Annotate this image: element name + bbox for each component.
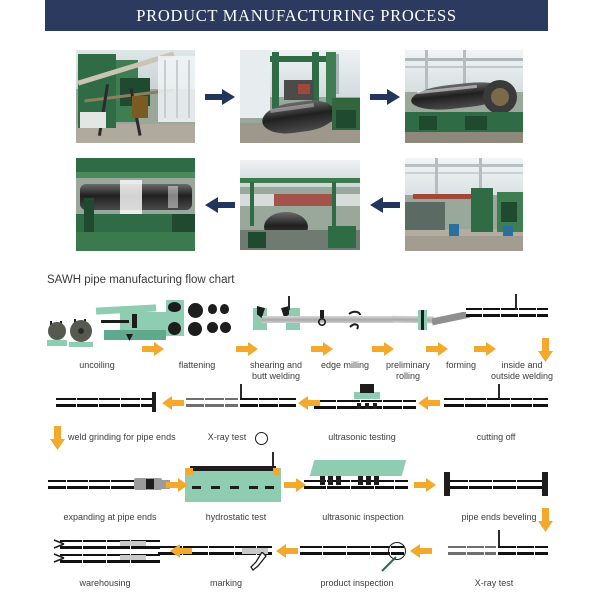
flow-arrow-row1-to-row2-down [538, 338, 553, 362]
flow-arrow-r4-3 [410, 544, 432, 558]
page-header-banner: PRODUCT MANUFACTURING PROCESS [45, 0, 548, 31]
steel-strip-rolling [392, 316, 434, 324]
flow-arrow-r1-6 [474, 342, 496, 356]
uncoiling-reel-1 [48, 322, 66, 340]
cutting-off-blade [498, 384, 500, 399]
pipe-cutting-off [444, 398, 548, 407]
warehousing-marking-bottom [120, 555, 146, 560]
step-label-flattening: flattening [162, 360, 232, 371]
step-label-ultrasonic-inspection: ultrasonic inspection [304, 512, 422, 523]
photo-workshop-overview [405, 158, 523, 251]
uncoiling-blade [101, 320, 129, 323]
step-label-uncoiling: uncoiling [62, 360, 132, 371]
formed-welded-pipe [466, 308, 548, 317]
photo-pipe-conveyor [76, 158, 195, 251]
page-title: PRODUCT MANUFACTURING PROCESS [136, 6, 456, 26]
flow-arrow-r4-2 [276, 544, 298, 558]
flow-arrow-r1-5 [426, 342, 448, 356]
pipe-expanding [48, 480, 136, 489]
uncoiling-base-1 [47, 340, 67, 346]
flattening-roll-5 [208, 304, 217, 314]
uncoiling-base-2 [69, 342, 93, 347]
flow-arrow-r3-1 [166, 478, 188, 492]
pipe-xray-row4-right [498, 546, 548, 555]
uncoiling-down-nub [126, 328, 133, 338]
ultrasonic-testing-probes [357, 396, 377, 402]
step-label-ultrasonic-testing: ultrasonic testing [310, 432, 414, 443]
step-label-weld-grinding: weld grinding for pipe ends [68, 432, 208, 443]
photo-uncoiling-mill [76, 50, 195, 143]
photo-spiral-pipe-forming [240, 50, 360, 143]
flow-arrow-r2-2 [298, 396, 320, 410]
step-label-edge-milling: edge milling [314, 360, 376, 371]
preliminary-rolling-roll [421, 310, 424, 330]
flow-arrow-r1-1 [142, 342, 164, 356]
ultrasonic-inspection-probe-2 [358, 472, 380, 481]
flattening-roll-8 [220, 322, 231, 333]
photo-arrow-left-2 [370, 196, 400, 214]
step-label-hydrostatic-test: hydrostatic test [186, 512, 286, 523]
pipe-xray-right-half [240, 398, 296, 407]
uncoiling-machine-detail [132, 314, 137, 328]
flow-arrow-r1-3 [311, 342, 333, 356]
pipe-xray-row4-left [448, 546, 496, 555]
step-label-expanding-pipe-ends: expanding at pipe ends [48, 512, 172, 523]
inside-outside-welding-torch [515, 294, 517, 310]
photo-hydrostatic-station [240, 160, 360, 250]
flattening-roll-4 [188, 322, 202, 336]
photo-arrow-right-2 [370, 88, 400, 106]
product-inspection-magnifier-handle [380, 556, 398, 572]
photo-arrow-left-1 [205, 196, 235, 214]
xray-test-row4-emitter [498, 530, 500, 546]
edge-milling-tool [348, 308, 362, 332]
warehousing-stack-ends [52, 538, 66, 566]
step-label-shearing-butt-welding: shearing and butt welding [240, 360, 312, 382]
hydrostatic-test-gauge-post [272, 452, 274, 466]
flow-arrow-r2-3 [418, 396, 440, 410]
step-label-product-inspection: product inspection [300, 578, 414, 589]
ultrasonic-testing-unit [360, 384, 374, 393]
beveling-cap-right [542, 472, 548, 496]
step-label-forming: forming [434, 360, 488, 371]
flow-chart-title: SAWH pipe manufacturing flow chart [47, 274, 235, 286]
photo-pipe-mill-line [405, 50, 523, 143]
uncoiling-machine-base [104, 330, 166, 340]
pipe-weld-grinding [56, 398, 154, 407]
flow-arrow-r2-1 [162, 396, 184, 410]
beveling-cap-left [444, 472, 450, 496]
step-label-cutting-off: cutting off [444, 432, 548, 443]
flattening-roll-1 [168, 302, 181, 312]
step-label-preliminary-rolling: preliminary rolling [378, 360, 438, 382]
product-manufacturing-process-page: PRODUCT MANUFACTURING PROCESS [0, 0, 600, 600]
step-label-pipe-ends-beveling: pipe ends beveling [444, 512, 554, 523]
steel-strip-shearing [262, 316, 306, 323]
ultrasonic-inspection-probe-1 [320, 472, 342, 481]
flattening-roll-2 [168, 322, 181, 335]
xray-test-emitter [240, 384, 242, 398]
flow-arrow-r3-3 [414, 478, 436, 492]
step-label-marking: marking [176, 578, 276, 589]
flattening-roll-7 [207, 322, 218, 333]
step-label-warehousing: warehousing [50, 578, 160, 589]
warehousing-marking-top [120, 541, 146, 546]
uncoiling-reel-hub [78, 328, 84, 334]
photo-arrow-right-1 [205, 88, 235, 106]
flattening-roll-3 [188, 303, 203, 318]
flow-arrow-row2-to-row3-down [50, 426, 65, 450]
flow-arrow-r1-4 [372, 342, 394, 356]
hydrostatic-test-clamps [186, 462, 280, 470]
flow-arrow-r1-2 [236, 342, 258, 356]
pipe-ends-beveling [446, 480, 546, 489]
flow-arrow-r3-2 [284, 478, 306, 492]
flattening-roll-6 [220, 304, 229, 314]
step-label-xray-test-row2: X-ray test [196, 432, 258, 443]
edge-milling-cutter [318, 310, 326, 328]
shearing-welder-post [288, 296, 290, 310]
expanding-head [146, 479, 154, 489]
hydrostatic-test-bubbles [192, 478, 274, 484]
step-label-xray-test-row4: X-ray test [444, 578, 544, 589]
forming-bend [432, 312, 470, 326]
pipe-xray-left-half [186, 398, 238, 407]
marking-spray-gun [250, 552, 268, 572]
step-label-inside-outside-welding: inside and outside welding [486, 360, 558, 382]
weld-grinding-end-cap [152, 392, 156, 412]
flow-arrow-r4-1 [170, 544, 192, 558]
